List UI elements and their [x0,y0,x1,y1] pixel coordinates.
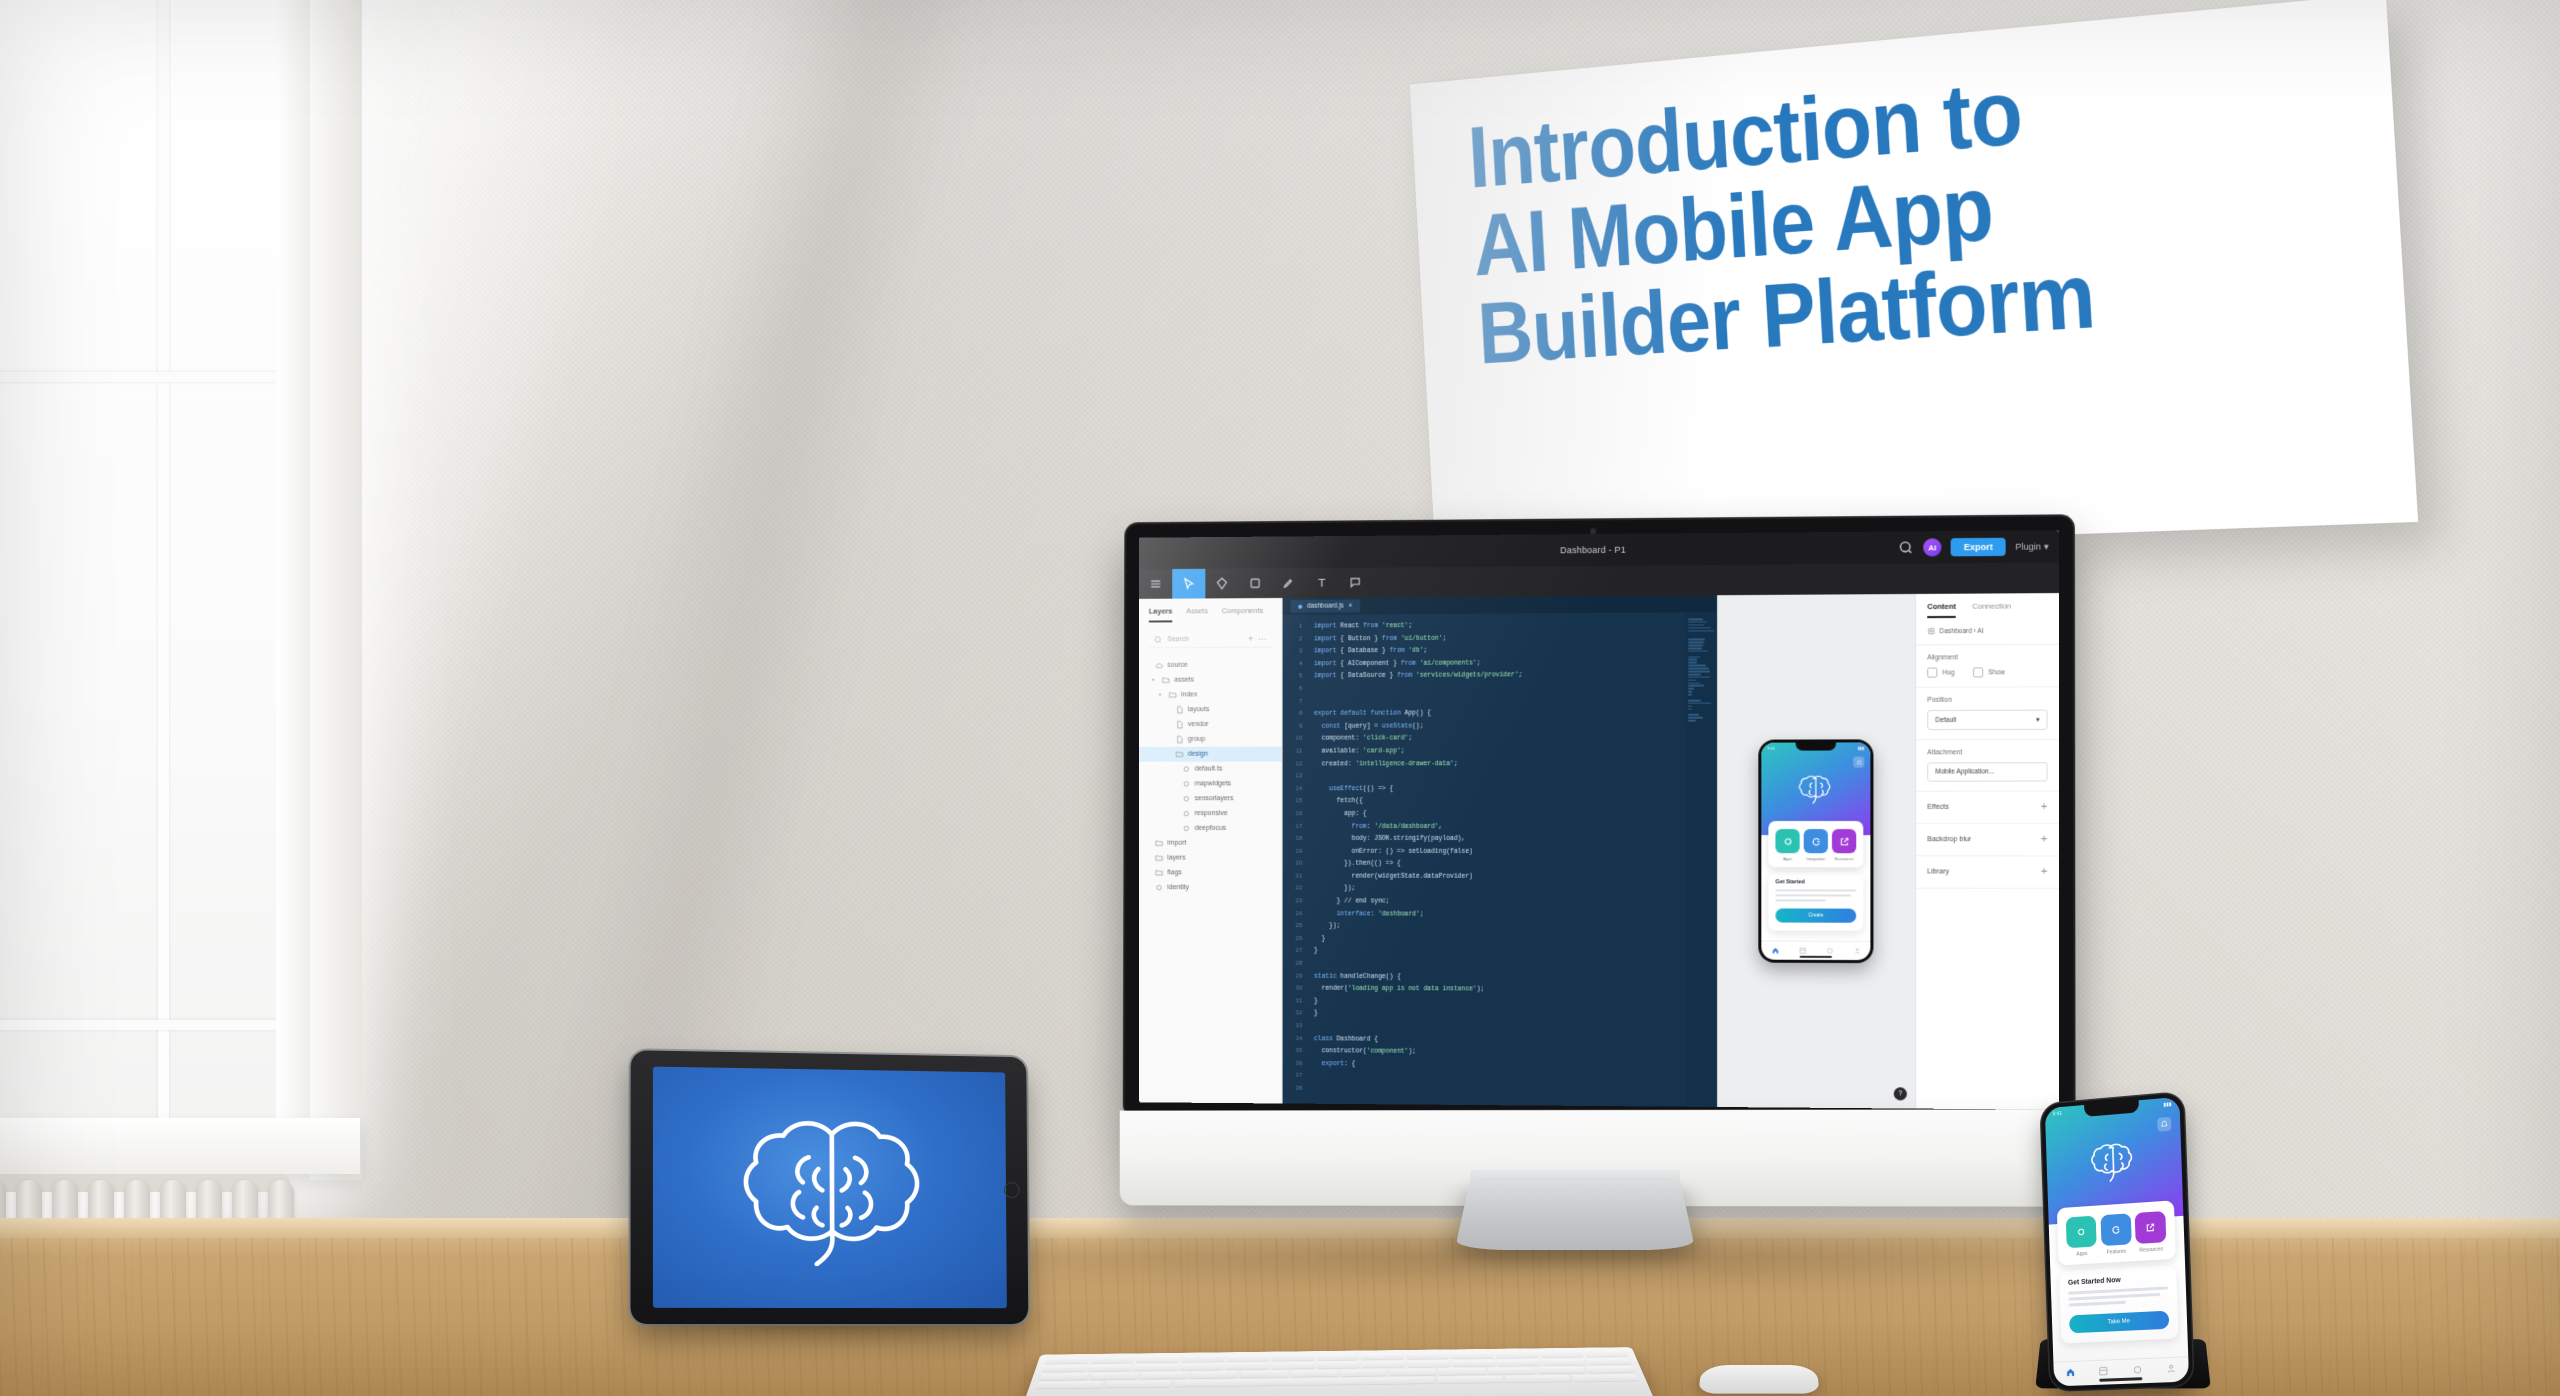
tile-resources[interactable]: Resources [1831,829,1857,861]
text-line [1775,894,1851,896]
code-line: const [query] = useState(); [1314,719,1685,733]
code-line [1314,694,1685,708]
position-select[interactable]: Default ▾ [1927,710,2047,731]
minimap-line [1688,627,1711,629]
close-icon[interactable]: × [1349,602,1353,609]
checkbox-hug[interactable]: Hug [1927,667,1954,677]
shape-icon[interactable] [1205,569,1238,599]
key[interactable] [1045,1357,1089,1364]
minimap-line [1688,668,1709,670]
tab-components[interactable]: Components [1222,606,1264,622]
minimap-line [1688,694,1692,696]
section-label: Library [1927,868,1949,875]
tile-grid: AppsIntegrationResources [1774,829,1857,861]
tile-apps[interactable]: Apps [2065,1216,2098,1259]
line-number: 23 [1283,895,1303,908]
phone-notch [1796,742,1836,750]
position-label: Position [1927,696,2047,703]
tile-grid: AppsFeaturesResources [2065,1211,2168,1258]
generate-icon [2100,1213,2131,1246]
alignment-label: Alignment [1927,654,2047,662]
editor-tab[interactable]: dashboard.js × [1290,599,1360,612]
line-number: 7 [1283,696,1303,709]
key[interactable] [1140,1372,1188,1379]
key[interactable] [1539,1351,1583,1358]
plugin-menu-label: Plugin [2015,542,2041,552]
tree-item-layouts[interactable]: layouts [1139,702,1281,717]
mouse[interactable] [1698,1365,1819,1394]
collapsible-sections: Effects+Backdrop blur+Library+ [1916,792,2059,889]
minimap-line [1688,720,1696,722]
home-indicator [1800,956,1832,958]
tree-item-responsive[interactable]: responsive [1139,806,1281,821]
tab-assets[interactable]: Assets [1186,606,1208,622]
key[interactable] [1271,1362,1314,1369]
code-line: available: 'card-app'; [1314,745,1685,758]
code-line: created: 'intelligence-drawer-data'; [1314,757,1685,770]
preview-info-card: Get Started Create [1768,872,1863,930]
dot-icon [1182,779,1191,788]
folder-icon [1168,691,1177,700]
checkbox-icon [1927,668,1937,678]
bell-icon[interactable] [2157,1117,2171,1132]
key[interactable] [1136,1356,1180,1363]
status-time: 9:41 [1767,746,1775,751]
tree-item-label: sensorlayers [1195,795,1234,802]
left-panel: Layers Assets Components Search + ··· so… [1139,598,1282,1104]
breadcrumb[interactable]: Dashboard › AI [1916,617,2059,645]
tree-item-layers[interactable]: layers [1139,851,1281,866]
phone-body: 9:41 ▮▮▮ AppsFeaturesResources [2041,1092,2193,1390]
minimap-line [1688,685,1704,687]
search-icon[interactable] [1898,539,1914,555]
minimap-line [1688,717,1703,719]
profile-icon[interactable] [1853,942,1861,960]
phone-screen: 9:41 ▮▮▮ [1761,742,1870,960]
minimap-line [1688,644,1703,646]
minimap-line [1688,702,1711,704]
minimap-line [1688,676,1710,678]
right-panel-tabs: Content Connection [1916,593,2059,618]
line-number-gutter: 1234567891011121314151617181920212223242… [1283,615,1307,1104]
status-icons: ▮▮▮ [1858,745,1865,750]
code-line: render(widgetState.dataProvider) [1314,870,1685,883]
key[interactable] [1272,1354,1314,1361]
line-number: 19 [1283,845,1303,858]
section-library[interactable]: Library+ [1916,856,2059,889]
poster-glare [1410,0,2418,557]
minimap-line [1688,624,1704,626]
preview-tiles-card: AppsIntegrationResources [1768,821,1863,867]
key[interactable] [1407,1360,1450,1367]
tree-item-label: assets [1174,677,1194,684]
more-options-icon[interactable]: ··· [1258,634,1267,644]
phone-screen[interactable]: 9:41 ▮▮▮ AppsFeaturesResources [2045,1097,2189,1387]
card-title: Get Started Now [2068,1274,2168,1286]
line-number: 34 [1283,1033,1303,1046]
line-number: 18 [1283,833,1303,845]
code-line: } // end sync; [1314,895,1685,908]
tree-item-label: layouts [1188,706,1210,713]
line-number: 8 [1283,708,1303,721]
key[interactable] [1340,1369,1387,1376]
profile-icon[interactable] [2166,1361,2178,1380]
add-icon[interactable]: + [2041,802,2048,813]
code-line: component: 'click-card'; [1314,732,1685,745]
monitor-screen[interactable]: Dashboard - P1 AI Export Plugin ▾ [1139,530,2059,1110]
code-editor[interactable]: dashboard.js × 1234567891011121314151617… [1283,595,1718,1107]
desktop-monitor: Dashboard - P1 AI Export Plugin ▾ [1118,520,2068,1120]
device-preview: 9:41 ▮▮▮ [1717,594,1915,1109]
key[interactable] [1090,1356,1134,1363]
minimap-line [1688,618,1703,620]
dot-icon [1155,883,1164,892]
smartphone-device[interactable]: 9:41 ▮▮▮ AppsFeaturesResources [2041,1092,2193,1390]
key[interactable] [1584,1350,1628,1357]
search-placeholder: Search [1167,636,1189,643]
component-icon [1927,627,1935,635]
tablet-device[interactable] [630,1050,1028,1324]
editor-body: 1234567891011121314151617181920212223242… [1283,612,1718,1107]
card-title: Get Started [1775,879,1856,885]
wall-poster: Introduction to AI Mobile App Builder Pl… [1410,0,2418,557]
folder-icon [1155,839,1164,848]
minimap-line [1688,650,1708,652]
tile-label: Resources [2135,1246,2168,1254]
brain-icon [2086,1137,2140,1185]
tree-item-label: deepfocus [1195,825,1227,832]
minimap-line [1688,679,1696,681]
key[interactable] [1587,1358,1632,1365]
line-number: 11 [1283,746,1303,759]
key[interactable] [1042,1365,1087,1372]
minimap-line [1688,673,1701,675]
line-number: 15 [1283,796,1303,808]
line-number: 26 [1283,933,1303,946]
minimap-line [1688,659,1697,661]
tree-item-source[interactable]: source [1139,657,1281,672]
line-number: 36 [1283,1058,1303,1071]
tree-item-group[interactable]: group [1139,732,1281,747]
code-line: fetch({ [1314,795,1685,808]
minimap-line [1688,639,1705,641]
minimap-line [1688,665,1706,667]
tab-connection[interactable]: Connection [1972,601,2011,617]
key[interactable] [1437,1376,1503,1384]
key[interactable] [1226,1355,1269,1362]
file-tree: source▾assets▾indexlayoutsvendorgroupdes… [1139,653,1281,899]
code-line [1314,770,1685,783]
code-line: export default function App() { [1314,707,1685,721]
keyboard[interactable] [1020,1347,1656,1396]
key[interactable] [1036,1381,1104,1389]
left-panel-tabs: Layers Assets Components [1139,598,1281,623]
line-number: 31 [1283,995,1303,1008]
minimap-line [1688,688,1694,690]
tree-item-assets[interactable]: ▾assets [1139,672,1281,687]
home-icon[interactable] [2065,1365,2076,1383]
attachment-label: Attachment [1927,749,2047,756]
folder-icon [1162,676,1171,685]
tile-integration[interactable]: Integration [1803,829,1829,861]
key[interactable] [1504,1375,1571,1383]
cta-button[interactable]: Take Me [2069,1311,2169,1334]
line-number: 29 [1283,970,1303,983]
line-number: 33 [1283,1020,1303,1033]
line-number: 37 [1283,1070,1303,1083]
help-button[interactable]: ? [1894,1087,1907,1100]
chevron-down-icon: ▾ [2044,541,2049,552]
minimap-line [1688,647,1702,649]
monitor-stand-foot [1455,1180,1696,1250]
tree-item-vendor[interactable]: vendor [1139,717,1281,732]
line-number: 3 [1283,646,1303,659]
folder-icon [1175,750,1184,759]
key[interactable] [1362,1361,1405,1368]
key[interactable] [1090,1372,1139,1379]
external-link-icon [1832,829,1856,853]
tile-label: Resources [1831,856,1857,861]
alignment-section: Alignment Hug Show [1916,645,2059,688]
text-line [1775,889,1856,891]
key[interactable] [1571,1374,1638,1382]
tile-features[interactable]: Features [2099,1213,2133,1256]
key[interactable] [1190,1371,1238,1378]
status-time: 9:41 [2053,1111,2063,1118]
minimap-line [1688,621,1707,623]
info-card: Get Started Now Take Me [2059,1265,2179,1344]
line-number: 9 [1283,721,1303,734]
phone-mockup: 9:41 ▮▮▮ [1758,739,1873,963]
dot-icon [1182,765,1191,774]
minimap-line [1688,630,1714,632]
add-icon[interactable]: + [2041,867,2048,878]
pen-icon[interactable] [1272,568,1305,598]
app-topbar: Dashboard - P1 AI Export Plugin ▾ [1139,530,2059,569]
section-backdrop-blur[interactable]: Backdrop blur+ [1916,824,2059,856]
disclosure-caret-icon[interactable]: ▾ [1159,692,1165,699]
minimap[interactable] [1685,612,1717,1107]
status-icons: ▮▮▮ [2163,1102,2171,1109]
tree-item-label: design [1188,751,1208,758]
key[interactable] [1088,1364,1133,1371]
key[interactable] [1317,1361,1360,1368]
minimap-line [1688,714,1699,716]
key[interactable] [1105,1380,1172,1388]
line-number: 38 [1283,1083,1303,1096]
dot-icon [1182,794,1191,803]
window-jamb [310,0,362,1180]
line-number: 16 [1283,808,1303,820]
key[interactable] [1290,1370,1337,1377]
text-line [2069,1301,2126,1307]
code-content[interactable]: import React from 'react';import { Butto… [1306,612,1685,1106]
file-icon [1175,705,1184,714]
tile-apps[interactable]: Apps [1774,829,1800,861]
dot-icon [1182,824,1191,833]
tree-item-label: flags [1167,869,1181,876]
tile-label: Apps [1774,856,1800,861]
checkbox-hug-label: Hug [1942,669,1954,676]
window-sill [0,1118,360,1174]
brain-icon [1796,773,1836,805]
key[interactable] [1180,1363,1224,1370]
position-section: Position Default ▾ [1916,687,2059,740]
disclosure-caret-icon[interactable]: ▾ [1152,677,1158,684]
tree-item-sensorlayers[interactable]: sensorlayers [1139,791,1281,806]
home-icon[interactable] [1771,942,1779,960]
file-icon [1298,604,1302,608]
editor-tab-label: dashboard.js [1307,603,1344,610]
tab-layers[interactable]: Layers [1149,607,1173,623]
frame-icon[interactable] [1239,568,1272,598]
tree-item-label: responsive [1195,810,1228,817]
code-line: from: '/data/dashboard', [1314,820,1685,833]
tree-item-deepfocus[interactable]: deepfocus [1139,821,1281,836]
topbar-right-group: AI Export Plugin ▾ [1898,537,2049,556]
tablet-screen[interactable] [653,1067,1007,1309]
tree-item-design[interactable]: design [1139,747,1281,762]
line-number: 14 [1283,783,1303,796]
tree-item-label: vendor [1188,721,1209,728]
tree-item-label: index [1181,691,1197,698]
key[interactable] [1497,1359,1541,1366]
minimap-line [1688,656,1700,658]
tablet-home-button[interactable] [1004,1182,1020,1198]
tree-item-default-ts[interactable]: default.ts [1139,762,1281,777]
line-number: 25 [1283,920,1303,933]
bottom-nav [2053,1356,2189,1386]
minimap-line [1688,691,1692,693]
code-line: interface: 'dashboard'; [1314,908,1685,922]
code-line: app: { [1314,808,1685,821]
spacebar[interactable] [1174,1377,1435,1387]
bell-icon[interactable] [1853,757,1864,768]
minimap-line [1688,708,1692,710]
key[interactable] [1389,1368,1437,1375]
key[interactable] [1542,1358,1586,1365]
line-number: 10 [1283,733,1303,746]
line-number: 24 [1283,908,1303,921]
code-line: body: JSON.stringify(payload), [1314,833,1685,846]
tree-item-label: mapwidgets [1195,780,1231,787]
export-button[interactable]: Export [1951,538,2007,557]
key[interactable] [1406,1352,1449,1359]
tree-item-import[interactable]: import [1139,836,1281,851]
tree-item-index[interactable]: ▾index [1139,687,1281,702]
menu-icon[interactable] [1139,569,1172,599]
attachment-section: Attachment Mobile Application... [1916,740,2059,792]
tree-item-label: layers [1167,855,1185,862]
window-frame [276,0,310,1160]
code-line: }); [1314,883,1685,896]
tree-item-flags[interactable]: flags [1139,865,1281,880]
checkbox-show[interactable]: Show [1973,667,2005,677]
key[interactable] [1039,1373,1088,1380]
tile-label: Features [2100,1248,2132,1256]
code-line: render('loading app is not data instance… [1314,983,1685,997]
dot-icon [1182,809,1191,818]
folder-icon [1155,854,1164,863]
minimap-line [1688,705,1692,707]
add-icon[interactable]: + [2041,834,2048,845]
tiles-card: AppsFeaturesResources [2057,1200,2176,1265]
workspace: Layers Assets Components Search + ··· so… [1139,593,2059,1110]
key[interactable] [1439,1368,1487,1375]
key[interactable] [1181,1355,1224,1362]
section-effects[interactable]: Effects+ [1916,792,2059,824]
minimap-line [1688,671,1710,673]
file-icon [1175,735,1184,744]
chevron-down-icon: ▾ [2036,716,2039,724]
tree-item-label: default.ts [1195,766,1223,773]
key[interactable] [1586,1366,1635,1373]
key[interactable] [1226,1363,1269,1370]
plugin-menu[interactable]: Plugin ▾ [2015,541,2048,552]
key[interactable] [1488,1367,1536,1374]
search-icon [1154,635,1163,644]
line-number: 28 [1283,958,1303,971]
key[interactable] [1452,1360,1496,1367]
tile-resources[interactable]: Resources [2134,1211,2168,1254]
line-number: 1 [1283,621,1303,634]
minimap-line [1688,682,1700,684]
line-number: 35 [1283,1045,1303,1058]
key[interactable] [1317,1353,1359,1360]
brain-icon [734,1110,928,1267]
tree-item-identity[interactable]: identity [1139,880,1281,895]
line-number: 5 [1283,671,1303,684]
code-line: constructor('component'); [1314,1045,1685,1060]
search-input[interactable]: Search + ··· [1149,631,1272,648]
line-number: 13 [1283,771,1303,784]
text-icon[interactable] [1305,568,1338,598]
key[interactable] [1134,1364,1178,1371]
key[interactable] [1451,1352,1494,1359]
code-line: }); [1314,920,1685,934]
comment-icon[interactable] [1339,568,1372,598]
cta-button[interactable]: Create [1775,908,1856,922]
search-actions: + ··· [1248,634,1267,644]
line-number: 20 [1283,858,1303,871]
cursor-icon[interactable] [1172,569,1205,599]
window-mullion-vertical [158,0,169,1160]
tab-content[interactable]: Content [1927,602,1956,618]
key[interactable] [1240,1370,1287,1377]
tile-label: Apps [2066,1250,2098,1258]
tree-item-label: source [1167,662,1187,669]
avatar[interactable]: AI [1923,538,1941,556]
section-label: Effects [1927,804,1949,811]
right-panel: Content Connection Dashboard › AI Alignm… [1915,593,2059,1110]
folder-icon [1155,868,1164,877]
line-number: 6 [1283,683,1303,696]
file-icon [1175,720,1184,729]
tree-item-mapwidgets[interactable]: mapwidgets [1139,776,1281,791]
tile-label: Integration [1803,856,1829,861]
checkbox-show-label: Show [1988,669,2005,676]
line-number: 27 [1283,945,1303,958]
attachment-input[interactable]: Mobile Application... [1927,762,2047,781]
position-value: Default [1935,716,1956,723]
add-layer-button[interactable]: + [1248,634,1253,644]
key[interactable] [1361,1353,1404,1360]
circle-icon [2066,1216,2097,1249]
key[interactable] [1537,1366,1586,1373]
line-number: 32 [1283,1008,1303,1021]
key[interactable] [1495,1351,1539,1358]
window-mullion-horizontal [0,372,310,382]
